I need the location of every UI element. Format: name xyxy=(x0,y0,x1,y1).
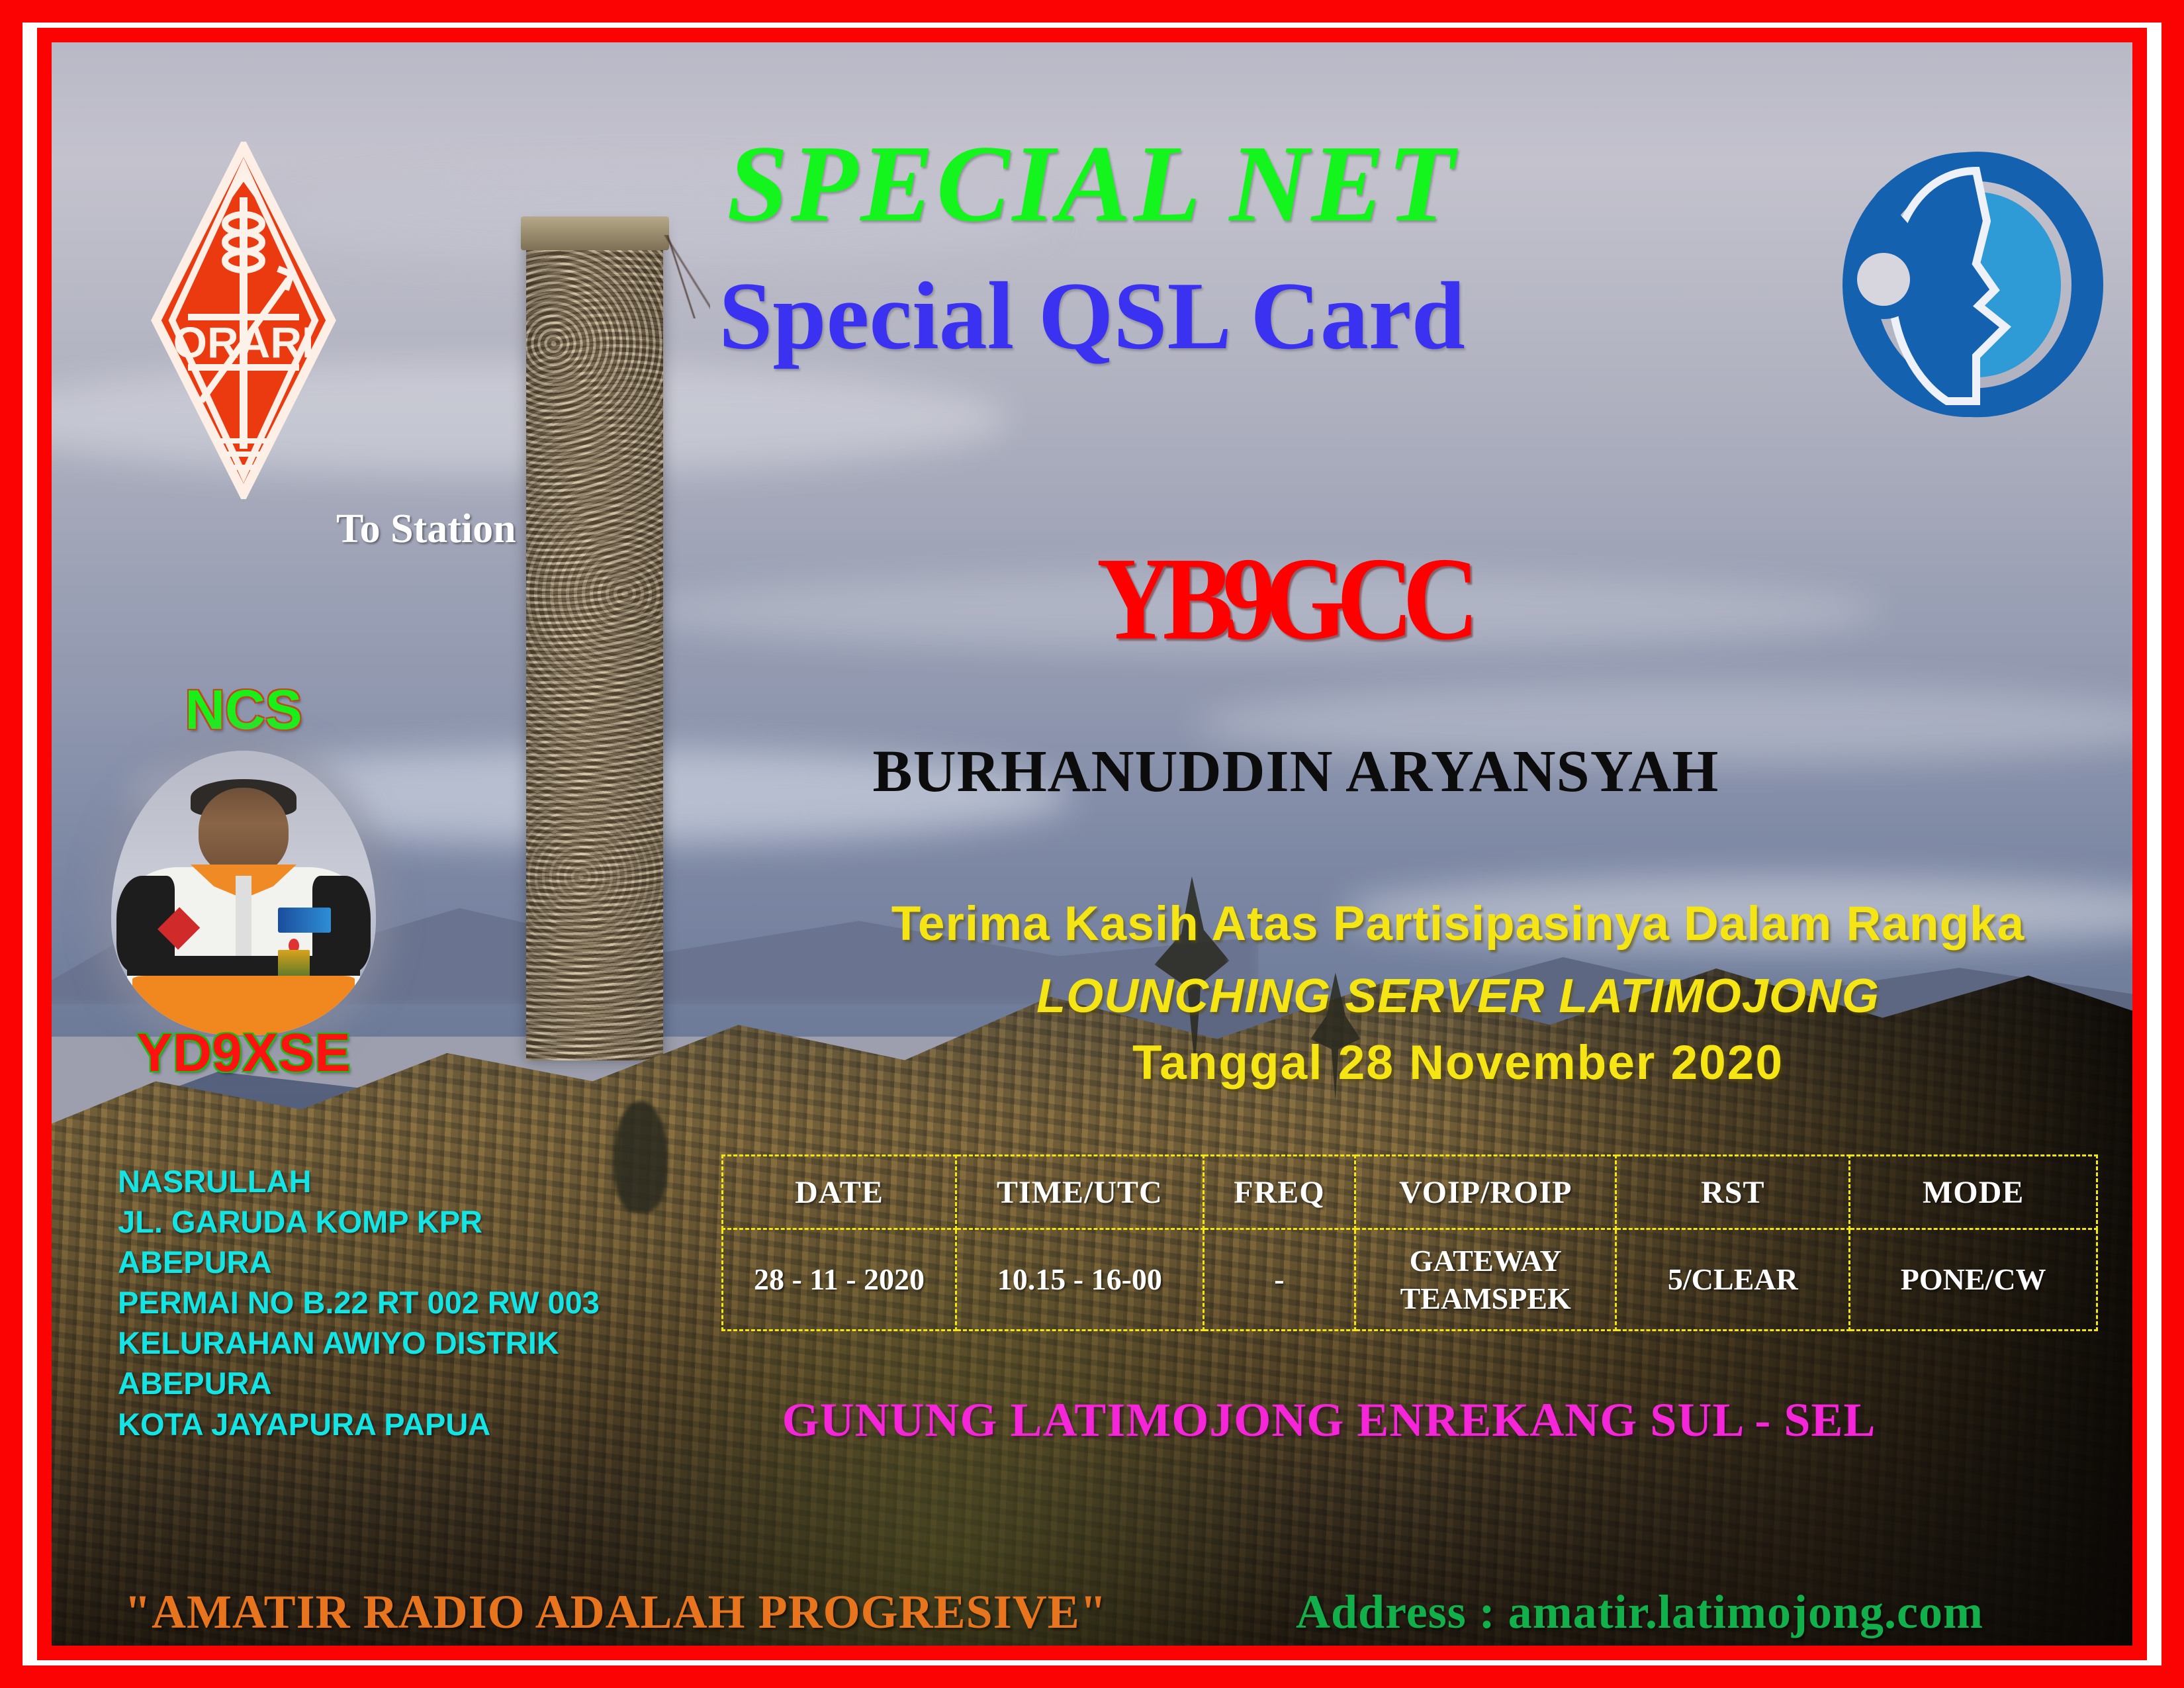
card-inner-border xyxy=(37,28,2147,1660)
qsl-card: ORARI SPECIAL NET Special QSL Card To St… xyxy=(0,0,2184,1688)
